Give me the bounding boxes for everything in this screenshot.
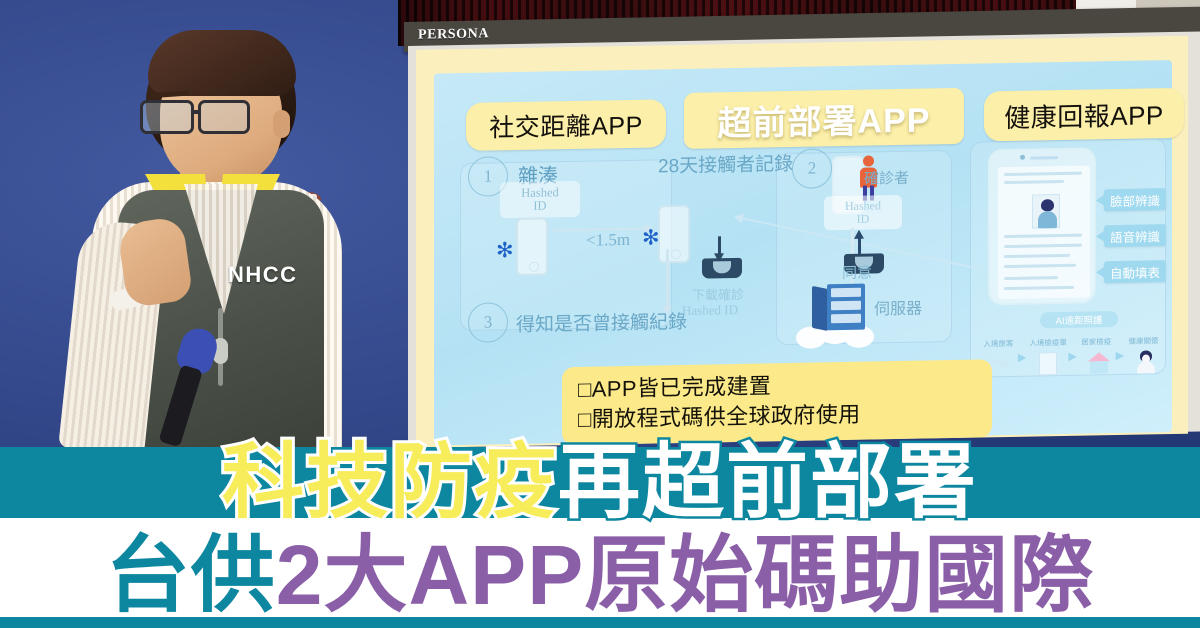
vest-logo-text: NHCC bbox=[228, 262, 298, 288]
arrow-down-to-step3 bbox=[666, 249, 669, 307]
distance-label: <1.5m bbox=[586, 230, 630, 251]
slide-canvas: 社交距離APP 超前部署APP 健康回報APP 1 雜湊 Hashed ID bbox=[416, 36, 1188, 448]
server-icon bbox=[812, 284, 866, 333]
flow-caption-0: 入境旅客 bbox=[982, 337, 1015, 349]
health-app-phone-mockup bbox=[988, 147, 1096, 305]
monitor-brand-label: PERSONA bbox=[418, 26, 489, 43]
nurse-icon bbox=[1137, 350, 1155, 372]
download-arrow-icon bbox=[718, 236, 721, 254]
hashed-id-pill-2: Hashed ID bbox=[824, 195, 902, 230]
flow-arrow-icon-3: ▶ bbox=[1116, 348, 1124, 361]
hashed-id-line2: ID bbox=[533, 199, 546, 212]
flow-step-care: 健康關懷 bbox=[1127, 335, 1160, 375]
hashed-id2-line2: ID bbox=[857, 213, 870, 226]
headline-2-purple: 2大APP原始碼助國際 bbox=[276, 508, 1094, 628]
bluetooth-icon-a: ✻ bbox=[496, 240, 514, 261]
title-social-distance-app: 社交距離APP bbox=[466, 99, 666, 151]
bluetooth-icon-b: ✻ bbox=[642, 227, 660, 248]
health-form-card bbox=[998, 166, 1090, 300]
flow-caption-1: 入境檢疫單 bbox=[1029, 336, 1065, 348]
server-label: 伺服器 bbox=[874, 295, 922, 320]
tag-auto-fill-form: 自動填表 bbox=[1104, 260, 1166, 283]
tag-face-recognition: 臉部辨識 bbox=[1104, 188, 1166, 211]
broadcast-screenshot: NHCC PERSONA 社交距離APP 超前部署APP 健康回報APP bbox=[0, 0, 1200, 628]
headline-line-2: 台供2大APP原始碼助國際 bbox=[0, 518, 1200, 618]
health-report-panel: 臉部辨識 語音辨識 自動填表 AI遠距照護 入境旅客 ▶ bbox=[982, 146, 1160, 379]
presenter-hair-top bbox=[148, 30, 296, 96]
consent-label: 同意 bbox=[842, 261, 872, 283]
flow-step-form: 入境檢疫單 bbox=[1029, 336, 1065, 376]
presenter-ear bbox=[273, 110, 290, 138]
headline-2-teal: 台供 bbox=[106, 508, 276, 628]
monitor-frame: 社交距離APP 超前部署APP 健康回報APP 1 雜湊 Hashed ID bbox=[408, 31, 1200, 446]
server-side bbox=[812, 286, 828, 331]
glasses-right-lens bbox=[198, 100, 250, 134]
download-label-line1: 下載確診 bbox=[692, 284, 744, 304]
glasses-left-lens bbox=[140, 100, 194, 134]
flow-arrow-icon-2: ▶ bbox=[1068, 349, 1076, 362]
presentation-monitor: PERSONA 社交距離APP 超前部署APP 健康回報APP 1 雜湊 Has… bbox=[404, 8, 1200, 440]
step-3-badge: 3 bbox=[468, 302, 508, 343]
ai-care-pill: AI遠距照護 bbox=[1040, 311, 1118, 328]
tag-voice-recognition: 語音辨識 bbox=[1104, 224, 1166, 247]
id-photo bbox=[1032, 194, 1060, 229]
flow-caption-2: 居家檢疫 bbox=[1080, 336, 1113, 348]
contact-tracing-diagram: 1 雜湊 Hashed ID ✻ <1.5m 28天接觸者記錄 ✻ bbox=[434, 144, 1172, 358]
flow-arrow-icon-1: ▶ bbox=[1018, 350, 1026, 363]
flow-step-quarantine: 居家檢疫 bbox=[1080, 336, 1113, 376]
house-icon bbox=[1088, 352, 1110, 372]
flow-caption-3: 健康關懷 bbox=[1127, 335, 1160, 347]
download-tray-icon bbox=[702, 258, 742, 279]
title-advance-deploy-app: 超前部署APP bbox=[684, 88, 964, 149]
record-28d-label: 28天接觸者記錄 bbox=[658, 149, 793, 178]
confirmed-case-label: 確診者 bbox=[864, 167, 909, 189]
glasses-bridge bbox=[193, 110, 201, 114]
step-3-label: 得知是否曾接觸紀錄 bbox=[516, 307, 687, 337]
hashed-id-pill-1: Hashed ID bbox=[500, 181, 580, 218]
document-icon bbox=[1039, 352, 1057, 375]
phone-camera-dot bbox=[1020, 155, 1025, 160]
phone-icon-a bbox=[516, 217, 548, 276]
presenter-figure: NHCC bbox=[30, 14, 400, 444]
title-health-report-app: 健康回報APP bbox=[984, 88, 1184, 142]
phone-icon-b bbox=[658, 205, 690, 264]
slide-inner-panel: 社交距離APP 超前部署APP 健康回報APP 1 雜湊 Hashed ID bbox=[434, 60, 1172, 446]
download-label-line2: Hashed ID bbox=[682, 302, 738, 319]
health-flow-row: 入境旅客 ▶ 入境檢疫單 ▶ 居家檢疫 bbox=[982, 332, 1160, 379]
person-head bbox=[863, 155, 874, 166]
phone-speaker-notch bbox=[1030, 156, 1058, 160]
server-rack bbox=[827, 284, 865, 331]
